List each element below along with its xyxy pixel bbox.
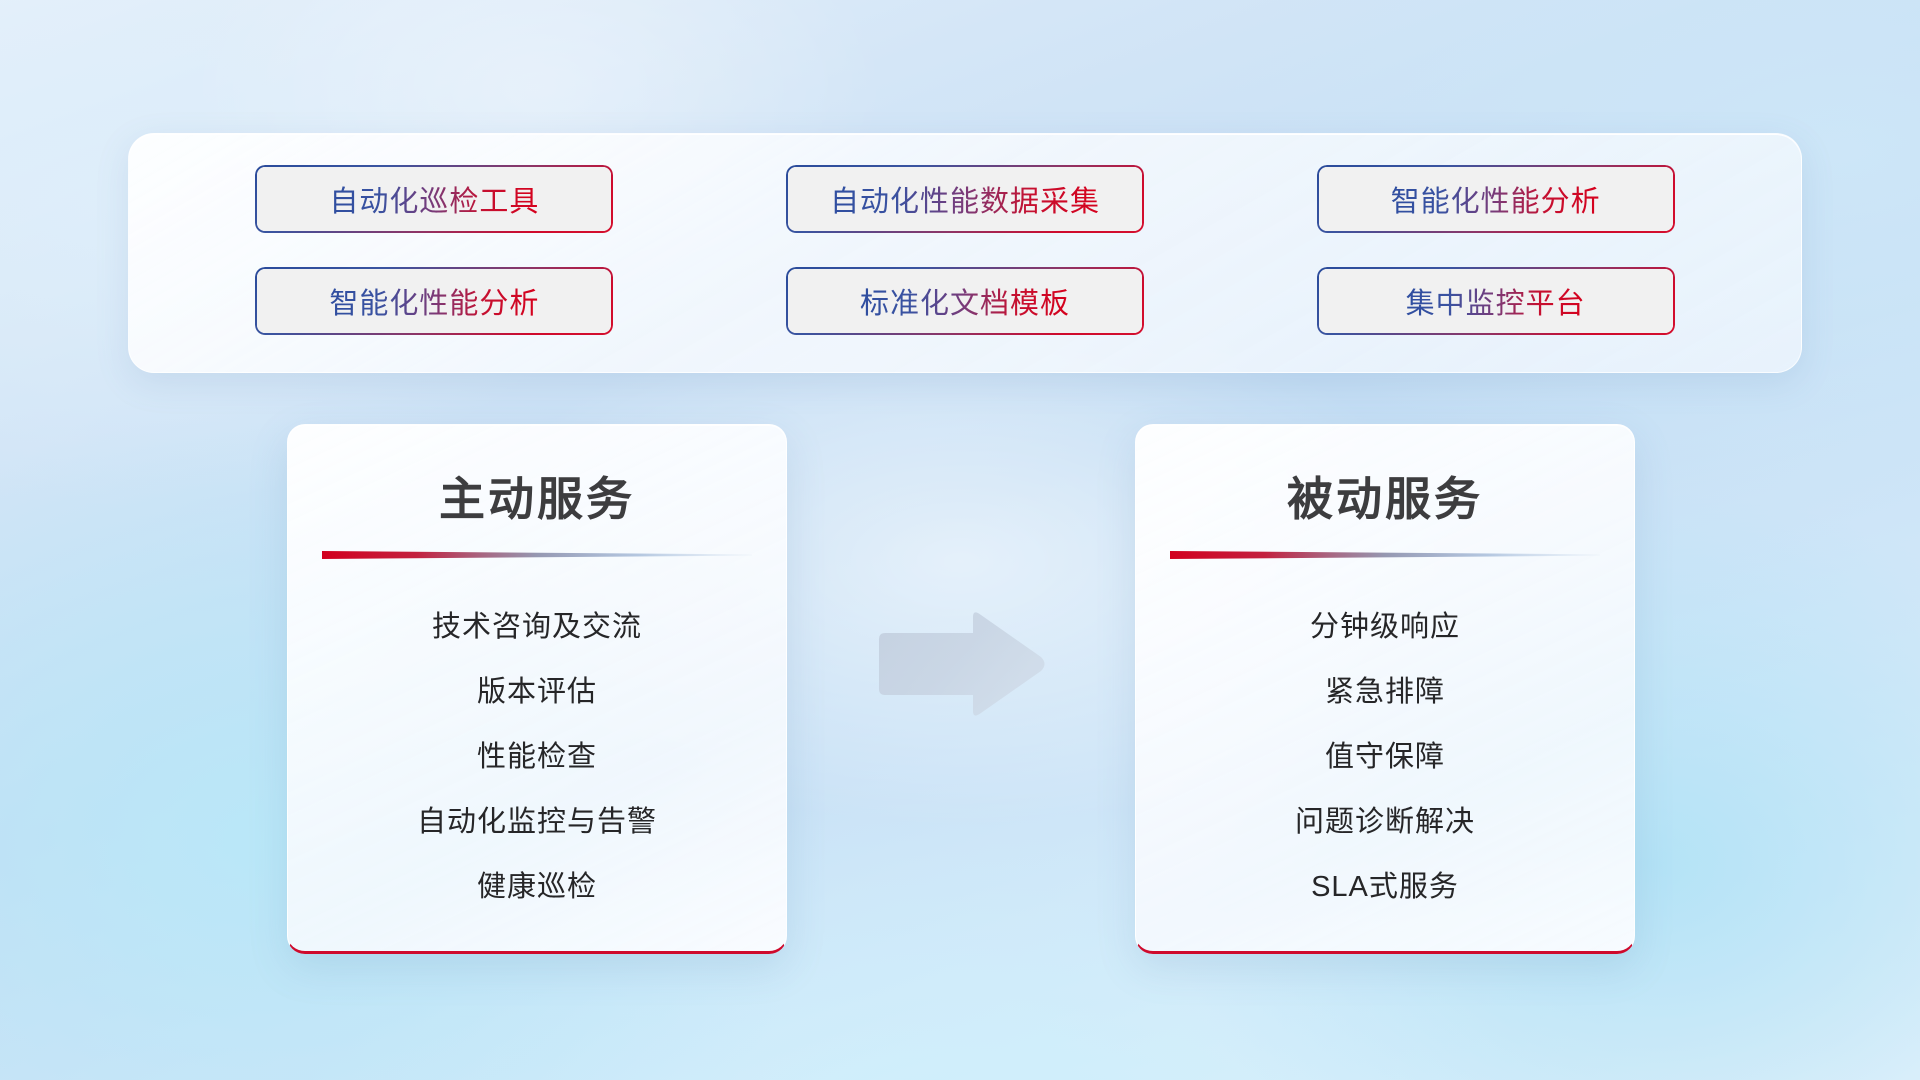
list-item: 值守保障	[1325, 725, 1445, 790]
capability-pill-inner: 自动化巡检工具	[257, 167, 611, 231]
capabilities-pill-grid: 自动化巡检工具 自动化性能数据采集 智能化性能分析 智能化性能分析 标准化文档模…	[129, 134, 1801, 372]
capability-pill[interactable]: 自动化性能数据采集	[786, 165, 1144, 233]
service-card-reactive: 被动服务 分钟级响应 紧急排障 值守保障 问题诊断解决 SLA式服务	[1135, 424, 1635, 954]
list-item: 版本评估	[477, 660, 597, 725]
list-item: SLA式服务	[1311, 855, 1459, 920]
capability-pill[interactable]: 自动化巡检工具	[255, 165, 613, 233]
capability-pill-inner: 集中监控平台	[1319, 269, 1673, 333]
service-card-title: 被动服务	[1136, 463, 1634, 529]
capability-pill-inner: 标准化文档模板	[788, 269, 1142, 333]
capability-pill-inner: 自动化性能数据采集	[788, 167, 1142, 231]
service-card-proactive: 主动服务 技术咨询及交流 版本评估 性能检查 自动化监控与告警 健康巡检	[287, 424, 787, 954]
capability-pill-label: 标准化文档模板	[860, 280, 1070, 322]
service-card-list: 技术咨询及交流 版本评估 性能检查 自动化监控与告警 健康巡检	[288, 595, 786, 920]
capability-pill-label: 智能化性能分析	[329, 280, 539, 322]
list-item: 性能检查	[477, 725, 597, 790]
capability-pill-label: 自动化性能数据采集	[830, 178, 1100, 220]
service-card-title: 主动服务	[288, 463, 786, 529]
arrow-right-icon	[873, 609, 1048, 719]
capability-pill-inner: 智能化性能分析	[257, 269, 611, 333]
capability-pill[interactable]: 集中监控平台	[1317, 267, 1675, 335]
capability-pill[interactable]: 标准化文档模板	[786, 267, 1144, 335]
title-divider	[322, 551, 752, 559]
list-item: 问题诊断解决	[1295, 790, 1475, 855]
capability-pill-label: 智能化性能分析	[1391, 178, 1601, 220]
list-item: 技术咨询及交流	[432, 595, 642, 660]
list-item: 分钟级响应	[1310, 595, 1460, 660]
capability-pill[interactable]: 智能化性能分析	[255, 267, 613, 335]
capability-pill[interactable]: 智能化性能分析	[1317, 165, 1675, 233]
list-item: 自动化监控与告警	[417, 790, 657, 855]
list-item: 健康巡检	[477, 855, 597, 920]
service-card-list: 分钟级响应 紧急排障 值守保障 问题诊断解决 SLA式服务	[1136, 595, 1634, 920]
list-item: 紧急排障	[1325, 660, 1445, 725]
capability-pill-label: 自动化巡检工具	[329, 178, 539, 220]
capability-pill-inner: 智能化性能分析	[1319, 167, 1673, 231]
title-divider	[1170, 551, 1600, 559]
capabilities-panel: 自动化巡检工具 自动化性能数据采集 智能化性能分析 智能化性能分析 标准化文档模…	[128, 133, 1802, 373]
capability-pill-label: 集中监控平台	[1406, 280, 1586, 322]
